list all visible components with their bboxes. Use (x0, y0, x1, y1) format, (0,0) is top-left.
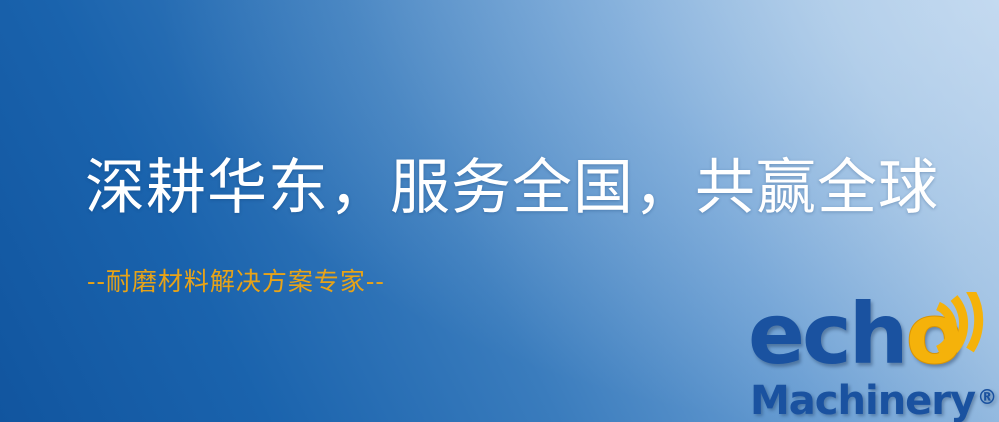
logo-word-prefix: ech (748, 285, 906, 383)
signal-waves-icon (933, 292, 999, 354)
logo-subtext-label: Machinery (750, 378, 975, 422)
banner-subtitle: --耐磨材料解决方案专家-- (87, 266, 385, 298)
banner-headline: 深耕华东，服务全国，共赢全球 (85, 152, 939, 224)
echo-machinery-logo: echo Machinery® (744, 292, 999, 422)
logo-subtext: Machinery® (750, 376, 996, 422)
logo-wordmark: echo (748, 292, 960, 376)
hero-banner: 深耕华东，服务全国，共赢全球 --耐磨材料解决方案专家-- echo Machi… (0, 0, 999, 422)
registered-trademark-icon: ® (977, 385, 996, 409)
